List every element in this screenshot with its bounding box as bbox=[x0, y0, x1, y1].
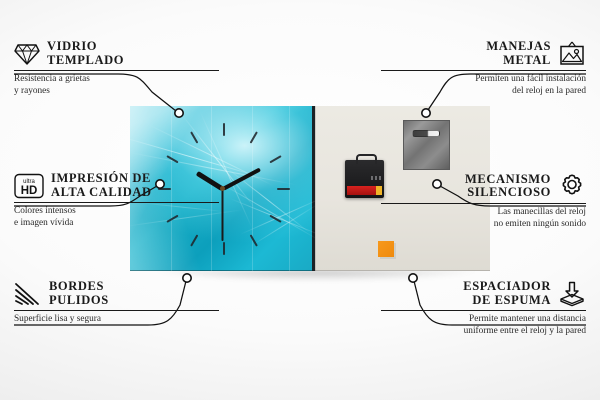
feature-header: MANEJAS METAL bbox=[381, 40, 586, 67]
ultra-hd-icon: ultra HD bbox=[14, 173, 44, 199]
feature-header: BORDES PULIDOS bbox=[14, 280, 219, 307]
polished-edges-icon bbox=[14, 282, 42, 306]
feature-desc-line2: e imagen vívida bbox=[14, 218, 219, 230]
gear-icon bbox=[558, 172, 586, 200]
hanger-slot bbox=[412, 130, 440, 137]
feature-header: MECANISMO SILENCIOSO bbox=[381, 172, 586, 200]
feature-manejas-metal[interactable]: MANEJAS METAL Permiten una fácil instala… bbox=[381, 40, 586, 97]
feature-desc-line2: del reloj en la pared bbox=[381, 86, 586, 98]
feature-rule bbox=[14, 202, 219, 203]
clock-mechanism bbox=[345, 160, 384, 198]
feature-desc-line1: Superficie lisa y segura bbox=[14, 314, 219, 326]
clock-center-cap bbox=[220, 186, 225, 191]
mechanism-handle bbox=[356, 154, 377, 164]
mechanism-label-dots bbox=[371, 176, 381, 180]
feature-header: ultra HD IMPRESIÓN DE ALTA CALIDAD bbox=[14, 172, 219, 199]
feature-rule bbox=[14, 310, 219, 311]
feature-rule bbox=[381, 203, 586, 204]
feature-desc-line1: Las manecillas del reloj bbox=[381, 207, 586, 219]
feature-title-line2: METAL bbox=[486, 54, 551, 68]
feature-rule bbox=[381, 310, 586, 311]
feature-rule bbox=[14, 70, 219, 71]
feature-rule bbox=[381, 70, 586, 71]
feature-desc-line1: Resistencia a grietas bbox=[14, 74, 219, 86]
feature-desc-line1: Colores intensos bbox=[14, 206, 219, 218]
feature-title-line1: VIDRIO bbox=[47, 40, 124, 54]
feature-title-line1: MANEJAS bbox=[486, 40, 551, 54]
feature-desc-line1: Permite mantener una distancia bbox=[381, 314, 586, 326]
feature-desc-line2: y rayones bbox=[14, 86, 219, 98]
feature-title-line2: SILENCIOSO bbox=[465, 186, 551, 200]
diamond-icon bbox=[14, 42, 40, 66]
picture-hanger-icon bbox=[558, 41, 586, 67]
ultra-hd-big-label: HD bbox=[21, 185, 38, 197]
feature-vidrio-templado[interactable]: VIDRIO TEMPLADO Resistencia a grietas y … bbox=[14, 40, 219, 97]
feature-desc-line2: no emiten ningún sonido bbox=[381, 219, 586, 231]
orange-foam-spacer bbox=[378, 241, 394, 257]
feature-title-line1: BORDES bbox=[49, 280, 109, 294]
feature-impresion-alta-calidad[interactable]: ultra HD IMPRESIÓN DE ALTA CALIDAD Color… bbox=[14, 172, 219, 229]
feature-title-line1: ESPACIADOR bbox=[463, 280, 551, 294]
feature-title-line1: IMPRESIÓN DE bbox=[51, 172, 152, 186]
infographic-canvas: VIDRIO TEMPLADO Resistencia a grietas y … bbox=[0, 0, 600, 400]
feature-title-line2: ALTA CALIDAD bbox=[51, 186, 152, 200]
feature-title-line2: PULIDOS bbox=[49, 294, 109, 308]
feature-title-line2: TEMPLADO bbox=[47, 54, 124, 68]
metal-hanger-plate bbox=[403, 120, 450, 170]
feature-header: VIDRIO TEMPLADO bbox=[14, 40, 219, 67]
feature-desc-line1: Permiten una fácil instalación bbox=[381, 74, 586, 86]
feature-title-line2: DE ESPUMA bbox=[463, 294, 551, 308]
clock-minute-hand bbox=[222, 167, 261, 190]
feature-title-line1: MECANISMO bbox=[465, 173, 551, 187]
feature-desc-line2: uniforme entre el reloj y la pared bbox=[381, 326, 586, 338]
feature-espaciador-de-espuma[interactable]: ESPACIADOR DE ESPUMA Permite mantener un… bbox=[381, 280, 586, 337]
feature-header: ESPACIADOR DE ESPUMA bbox=[381, 280, 586, 307]
feature-mecanismo-silencioso[interactable]: MECANISMO SILENCIOSO Las manecillas del … bbox=[381, 172, 586, 230]
foam-spacer-icon bbox=[558, 281, 586, 307]
clock-second-hand bbox=[222, 189, 224, 241]
feature-bordes-pulidos[interactable]: BORDES PULIDOS Superficie lisa y segura bbox=[14, 280, 219, 326]
